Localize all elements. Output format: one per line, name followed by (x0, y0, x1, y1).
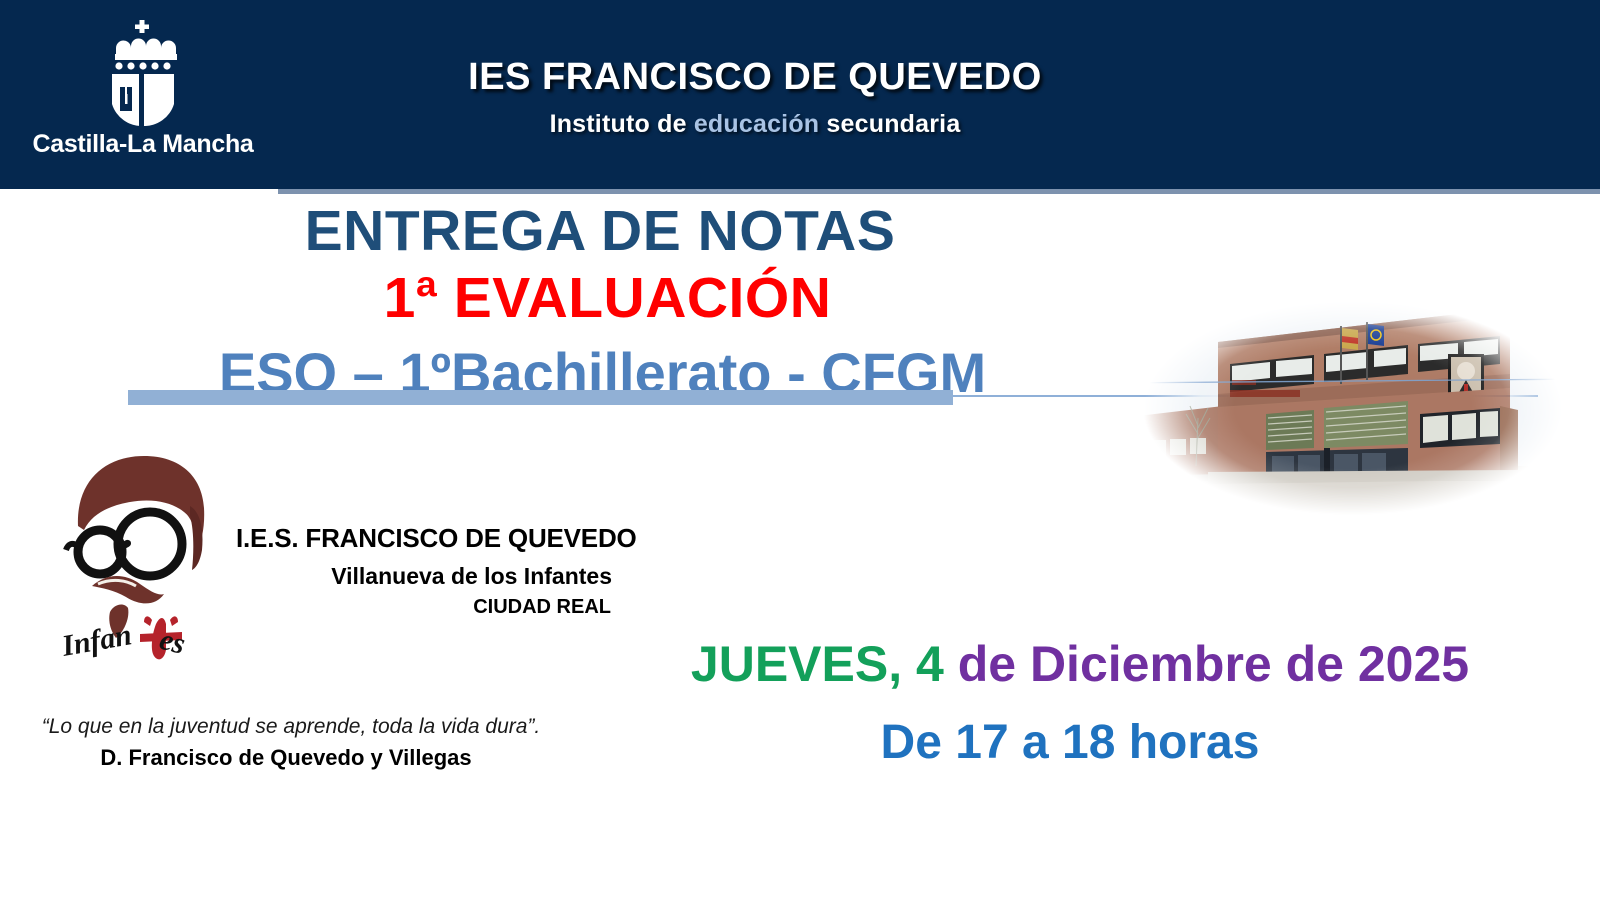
heading-primera-evaluacion: 1ª EVALUACIÓN (0, 265, 1215, 331)
event-date-rest: de Diciembre de 2025 (944, 636, 1469, 692)
school-title: IES FRANCISCO DE QUEVEDO (0, 56, 1600, 99)
event-time: De 17 a 18 horas (600, 715, 1540, 770)
school-building-photo (1118, 288, 1588, 528)
address-line-school-name: I.E.S. FRANCISCO DE QUEVEDO (236, 523, 637, 554)
address-line-province: CIUDAD REAL (0, 596, 611, 619)
header-band-accent-strip (278, 189, 1600, 194)
quote-text: “Lo que en la juventud se aprende, toda … (0, 715, 582, 739)
divider-thick-rule (128, 390, 953, 405)
school-subtitle-highlight: educación (694, 110, 819, 138)
event-date: JUEVES, 4 de Diciembre de 2025 (600, 635, 1560, 693)
school-subtitle-part2: secundaria (819, 110, 960, 138)
school-subtitle: Instituto de educación secundaria (0, 110, 1600, 139)
heading-entrega-de-notas: ENTREGA DE NOTAS (0, 198, 1200, 264)
poster-canvas: Castilla-La Mancha IES FRANCISCO DE QUEV… (0, 0, 1600, 900)
quote-author: D. Francisco de Quevedo y Villegas (0, 745, 572, 771)
quevedo-caricature-infantes-logo: Infan es (52, 434, 232, 674)
event-date-day: JUEVES, 4 (691, 636, 944, 692)
school-subtitle-part1: Instituto de (550, 110, 694, 138)
address-line-town: Villanueva de los Infantes (0, 563, 612, 590)
